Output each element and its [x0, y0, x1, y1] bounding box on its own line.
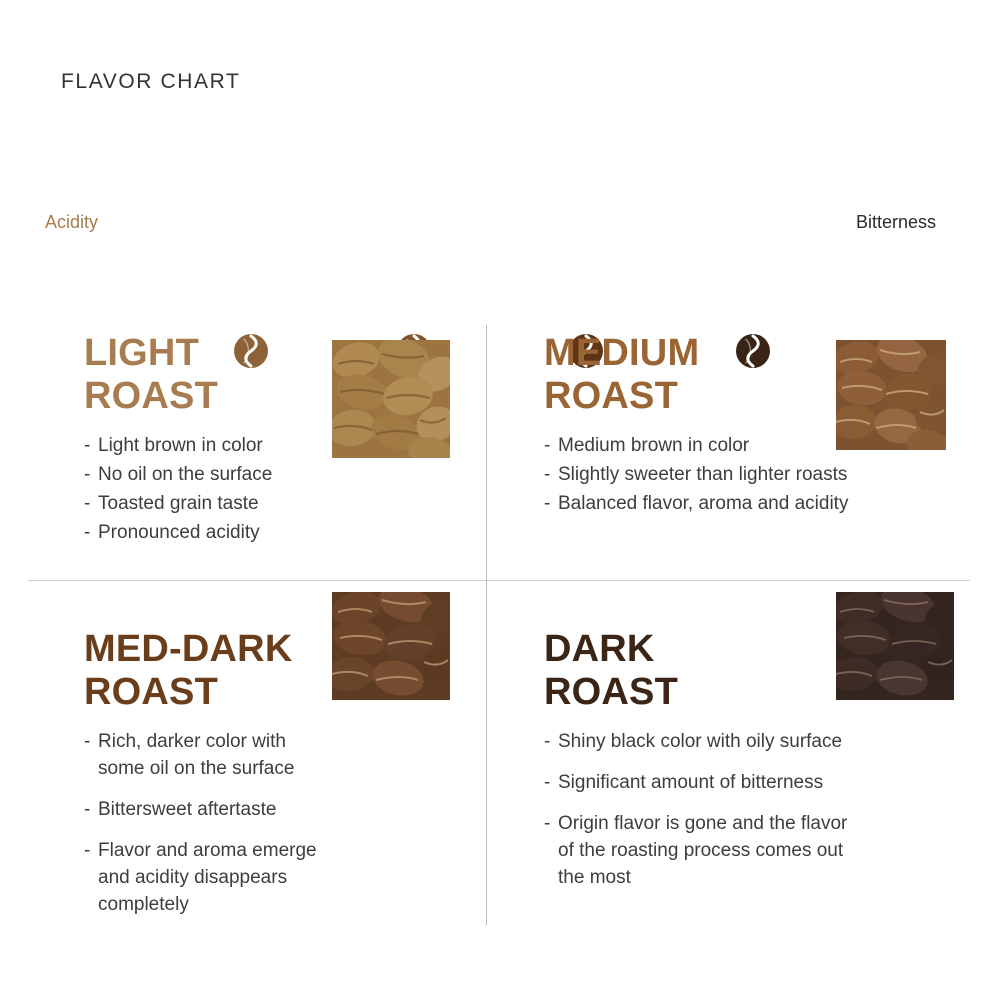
- bullet-list: - Rich, darker color with some oil on th…: [84, 729, 484, 919]
- bullet-text: Toasted grain taste: [98, 491, 259, 518]
- card-med-dark-roast: MED-DARK ROAST - Rich, darker color with…: [84, 628, 484, 933]
- bullet-marker: -: [544, 729, 558, 756]
- roast-scale: [0, 162, 1001, 277]
- list-item: - Pronounced acidity: [84, 520, 484, 547]
- bullet-text: Origin flavor is gone and the flavor of …: [558, 811, 847, 892]
- bullet-text: No oil on the surface: [98, 462, 272, 489]
- horizontal-divider: [28, 580, 970, 581]
- bullet-list: - Shiny black color with oily surface - …: [544, 729, 974, 892]
- list-item: - Balanced flavor, aroma and acidity: [544, 491, 974, 518]
- list-item: - Rich, darker color with some oil on th…: [84, 729, 484, 783]
- card-title: LIGHT ROAST: [84, 332, 484, 417]
- bullet-text: Shiny black color with oily surface: [558, 729, 842, 756]
- flavor-chart-page: FLAVOR CHART: [0, 0, 1001, 1001]
- list-item: - Bittersweet aftertaste: [84, 797, 484, 824]
- bullet-marker: -: [84, 462, 98, 489]
- bullet-marker: -: [544, 433, 558, 460]
- list-item: - Medium brown in color: [544, 433, 974, 460]
- list-item: - Shiny black color with oily surface: [544, 729, 974, 756]
- bullet-marker: -: [544, 811, 558, 892]
- bullet-text: Flavor and aroma emerge and acidity disa…: [98, 838, 317, 919]
- list-item: - Light brown in color: [84, 433, 484, 460]
- segment-label-med-dark: MED-DARK: [504, 208, 670, 232]
- roast-scale-arrow: [0, 162, 1001, 277]
- bullet-marker: -: [84, 433, 98, 460]
- card-dark-roast: DARK ROAST - Shiny black color with oily…: [544, 628, 974, 906]
- card-title: DARK ROAST: [544, 628, 974, 713]
- card-title: MED-DARK ROAST: [84, 628, 484, 713]
- segment-label-dark: DARK: [691, 208, 815, 232]
- bullet-marker: -: [544, 462, 558, 489]
- acidity-label: Acidity: [45, 212, 98, 233]
- segment-label-medium: MEDIUM: [352, 208, 476, 232]
- list-item: - Slightly sweeter than lighter roasts: [544, 462, 974, 489]
- bullet-marker: -: [84, 729, 98, 783]
- bullet-text: Slightly sweeter than lighter roasts: [558, 462, 847, 489]
- bullet-text: Light brown in color: [98, 433, 263, 460]
- list-item: - No oil on the surface: [84, 462, 484, 489]
- list-item: - Origin flavor is gone and the flavor o…: [544, 811, 974, 892]
- card-medium-roast: MEDIUM ROAST - Medium brown in color - S…: [544, 332, 974, 520]
- segment-label-light: LIGHT: [189, 208, 313, 232]
- card-light-roast: LIGHT ROAST - Light brown in color - No …: [84, 332, 484, 549]
- page-title: FLAVOR CHART: [61, 70, 240, 94]
- bullet-marker: -: [544, 491, 558, 518]
- bullet-text: Pronounced acidity: [98, 520, 260, 547]
- card-title: MEDIUM ROAST: [544, 332, 974, 417]
- bullet-text: Rich, darker color with some oil on the …: [98, 729, 294, 783]
- bullet-list: - Light brown in color - No oil on the s…: [84, 433, 484, 547]
- bullet-text: Medium brown in color: [558, 433, 749, 460]
- bullet-marker: -: [84, 838, 98, 919]
- list-item: - Flavor and aroma emerge and acidity di…: [84, 838, 484, 919]
- bullet-marker: -: [84, 520, 98, 547]
- bullet-list: - Medium brown in color - Slightly sweet…: [544, 433, 974, 518]
- bullet-marker: -: [84, 491, 98, 518]
- list-item: - Significant amount of bitterness: [544, 770, 974, 797]
- bitterness-label: Bitterness: [856, 212, 936, 233]
- list-item: - Toasted grain taste: [84, 491, 484, 518]
- bullet-text: Balanced flavor, aroma and acidity: [558, 491, 848, 518]
- vertical-divider: [486, 325, 487, 925]
- bullet-text: Significant amount of bitterness: [558, 770, 823, 797]
- bullet-marker: -: [544, 770, 558, 797]
- bullet-marker: -: [84, 797, 98, 824]
- bullet-text: Bittersweet aftertaste: [98, 797, 276, 824]
